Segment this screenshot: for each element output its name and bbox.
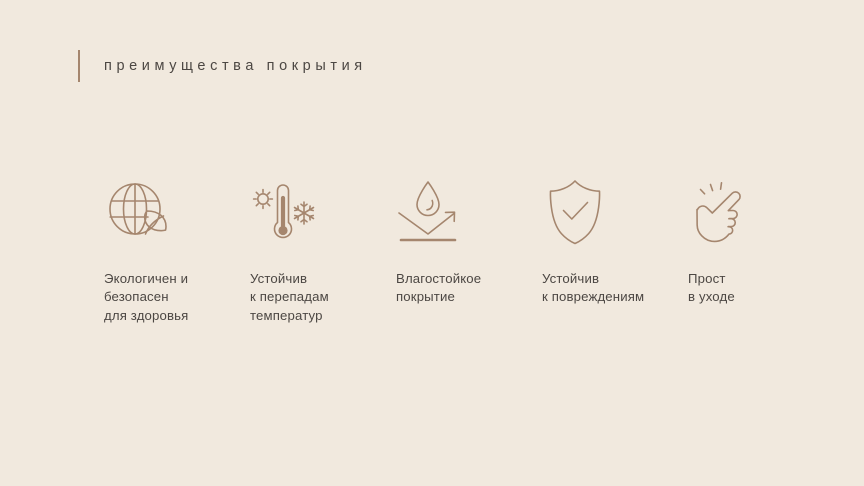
feature-item-durability: Устойчив к повреждениям	[542, 176, 688, 307]
globe-leaf-icon	[104, 176, 172, 248]
hand-tap-icon	[688, 176, 756, 248]
feature-item-waterproof: Влагостойкое покрытие	[396, 176, 542, 307]
feature-caption: Устойчив к повреждениям	[542, 270, 644, 307]
feature-caption: Влагостойкое покрытие	[396, 270, 481, 307]
feature-caption: Устойчив к перепадам температур	[250, 270, 329, 325]
feature-caption: Экологичен и безопасен для здоровья	[104, 270, 188, 325]
shield-check-icon	[542, 176, 610, 248]
water-drop-repellent-icon	[396, 176, 464, 248]
feature-item-easy-care: Прост в уходе	[688, 176, 834, 307]
section-header: преимущества покрытия	[78, 50, 367, 82]
header-accent-rule	[78, 50, 80, 82]
features-row: Экологичен и безопасен для здоровья	[104, 176, 824, 325]
feature-item-temperature: Устойчив к перепадам температур	[250, 176, 396, 325]
feature-caption: Прост в уходе	[688, 270, 735, 307]
page-title: преимущества покрытия	[104, 59, 367, 74]
thermometer-sun-snowflake-icon	[250, 176, 318, 248]
slide-root: преимущества покрытия Экологичен и безоп…	[0, 0, 864, 486]
feature-item-eco: Экологичен и безопасен для здоровья	[104, 176, 250, 325]
